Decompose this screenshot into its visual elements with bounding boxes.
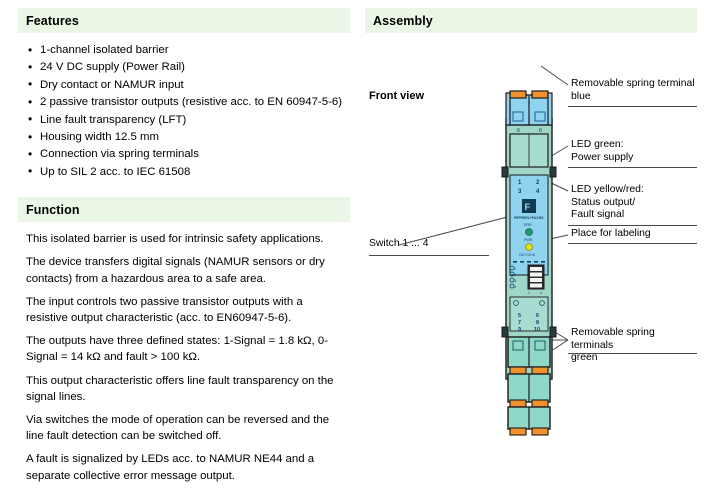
green-terminal-3 — [508, 407, 550, 429]
callout-rule — [369, 255, 489, 256]
list-item: Up to SIL 2 acc. to IEC 61508 — [26, 164, 350, 181]
list-item: Dry contact or NAMUR input — [26, 77, 350, 94]
features-list: 1-channel isolated barrier 24 V DC suppl… — [18, 33, 350, 181]
svg-text:5: 5 — [518, 313, 521, 319]
svg-text:10: 10 — [534, 327, 540, 333]
callout-rule — [568, 225, 697, 226]
svg-text:7: 7 — [518, 320, 521, 326]
paragraph: This isolated barrier is used for intrin… — [26, 231, 344, 247]
callout-rule — [568, 167, 697, 168]
datasheet-page: Features 1-channel isolated barrier 24 V… — [0, 0, 704, 471]
paragraph: A fault is signalized by LEDs acc. to NA… — [26, 451, 344, 483]
function-body: This isolated barrier is used for intrin… — [18, 222, 350, 484]
callout-led-green: LED green: Power supply — [571, 139, 633, 164]
device-illustration: 6 6 1 2 3 4 F — [498, 89, 560, 437]
callout-switch: Switch 1 ... 4 — [369, 238, 428, 251]
paragraph: The outputs have three defined states: 1… — [26, 333, 344, 365]
features-title: Features — [26, 14, 79, 28]
paragraph: Via switches the mode of operation can b… — [26, 412, 344, 444]
paragraph: The input controls two passive transisto… — [26, 294, 344, 326]
svg-text:1: 1 — [528, 291, 530, 295]
list-item: 1-channel isolated barrier — [26, 42, 350, 59]
list-item: Housing width 12.5 mm — [26, 129, 350, 146]
svg-text:PEPPERL+FUCHS: PEPPERL+FUCHS — [514, 216, 544, 220]
paragraph: This output characteristic offers line f… — [26, 373, 344, 405]
function-header: Function — [18, 197, 350, 222]
green-terminal-2 — [508, 374, 550, 402]
svg-text:4: 4 — [540, 291, 542, 295]
svg-text:6: 6 — [517, 128, 520, 134]
callout-place-for-labeling: Place for labeling — [571, 228, 651, 241]
left-column: Features 1-channel isolated barrier 24 V… — [18, 8, 350, 491]
top-blue-terminal — [506, 91, 552, 125]
right-column: Assembly Front view — [365, 8, 697, 453]
assembly-header: Assembly — [365, 8, 697, 33]
features-header: Features — [18, 8, 350, 33]
callout-rule — [568, 243, 697, 244]
svg-text:8: 8 — [536, 320, 539, 326]
svg-text:OUT/CHK: OUT/CHK — [519, 253, 536, 257]
callout-rule — [568, 106, 697, 107]
list-item: Connection via spring terminals — [26, 146, 350, 163]
paragraph: The device transfers digital signals (NA… — [26, 254, 344, 286]
callout-led-yellow-red: LED yellow/red: Status output/ Fault sig… — [571, 184, 644, 222]
front-view-label: Front view — [369, 90, 424, 102]
green-terminal-1 — [508, 337, 550, 367]
assembly-figure: Front view — [365, 33, 697, 453]
callout-terminals-green: Removable spring terminals green — [571, 327, 697, 365]
assembly-title: Assembly — [373, 14, 433, 28]
svg-text:PWR: PWR — [524, 238, 533, 242]
list-item: Line fault transparency (LFT) — [26, 112, 350, 129]
svg-text:6: 6 — [539, 128, 542, 134]
callout-rule — [568, 353, 697, 354]
svg-text:6: 6 — [536, 313, 539, 319]
svg-text:9: 9 — [518, 327, 521, 333]
list-item: 24 V DC supply (Power Rail) — [26, 59, 350, 76]
list-item: 2 passive transistor outputs (resistive … — [26, 94, 350, 111]
svg-text:F: F — [525, 202, 531, 213]
function-title: Function — [26, 203, 80, 217]
svg-text:ERR: ERR — [524, 223, 532, 227]
callout-terminal-blue: Removable spring terminal blue — [571, 78, 695, 103]
